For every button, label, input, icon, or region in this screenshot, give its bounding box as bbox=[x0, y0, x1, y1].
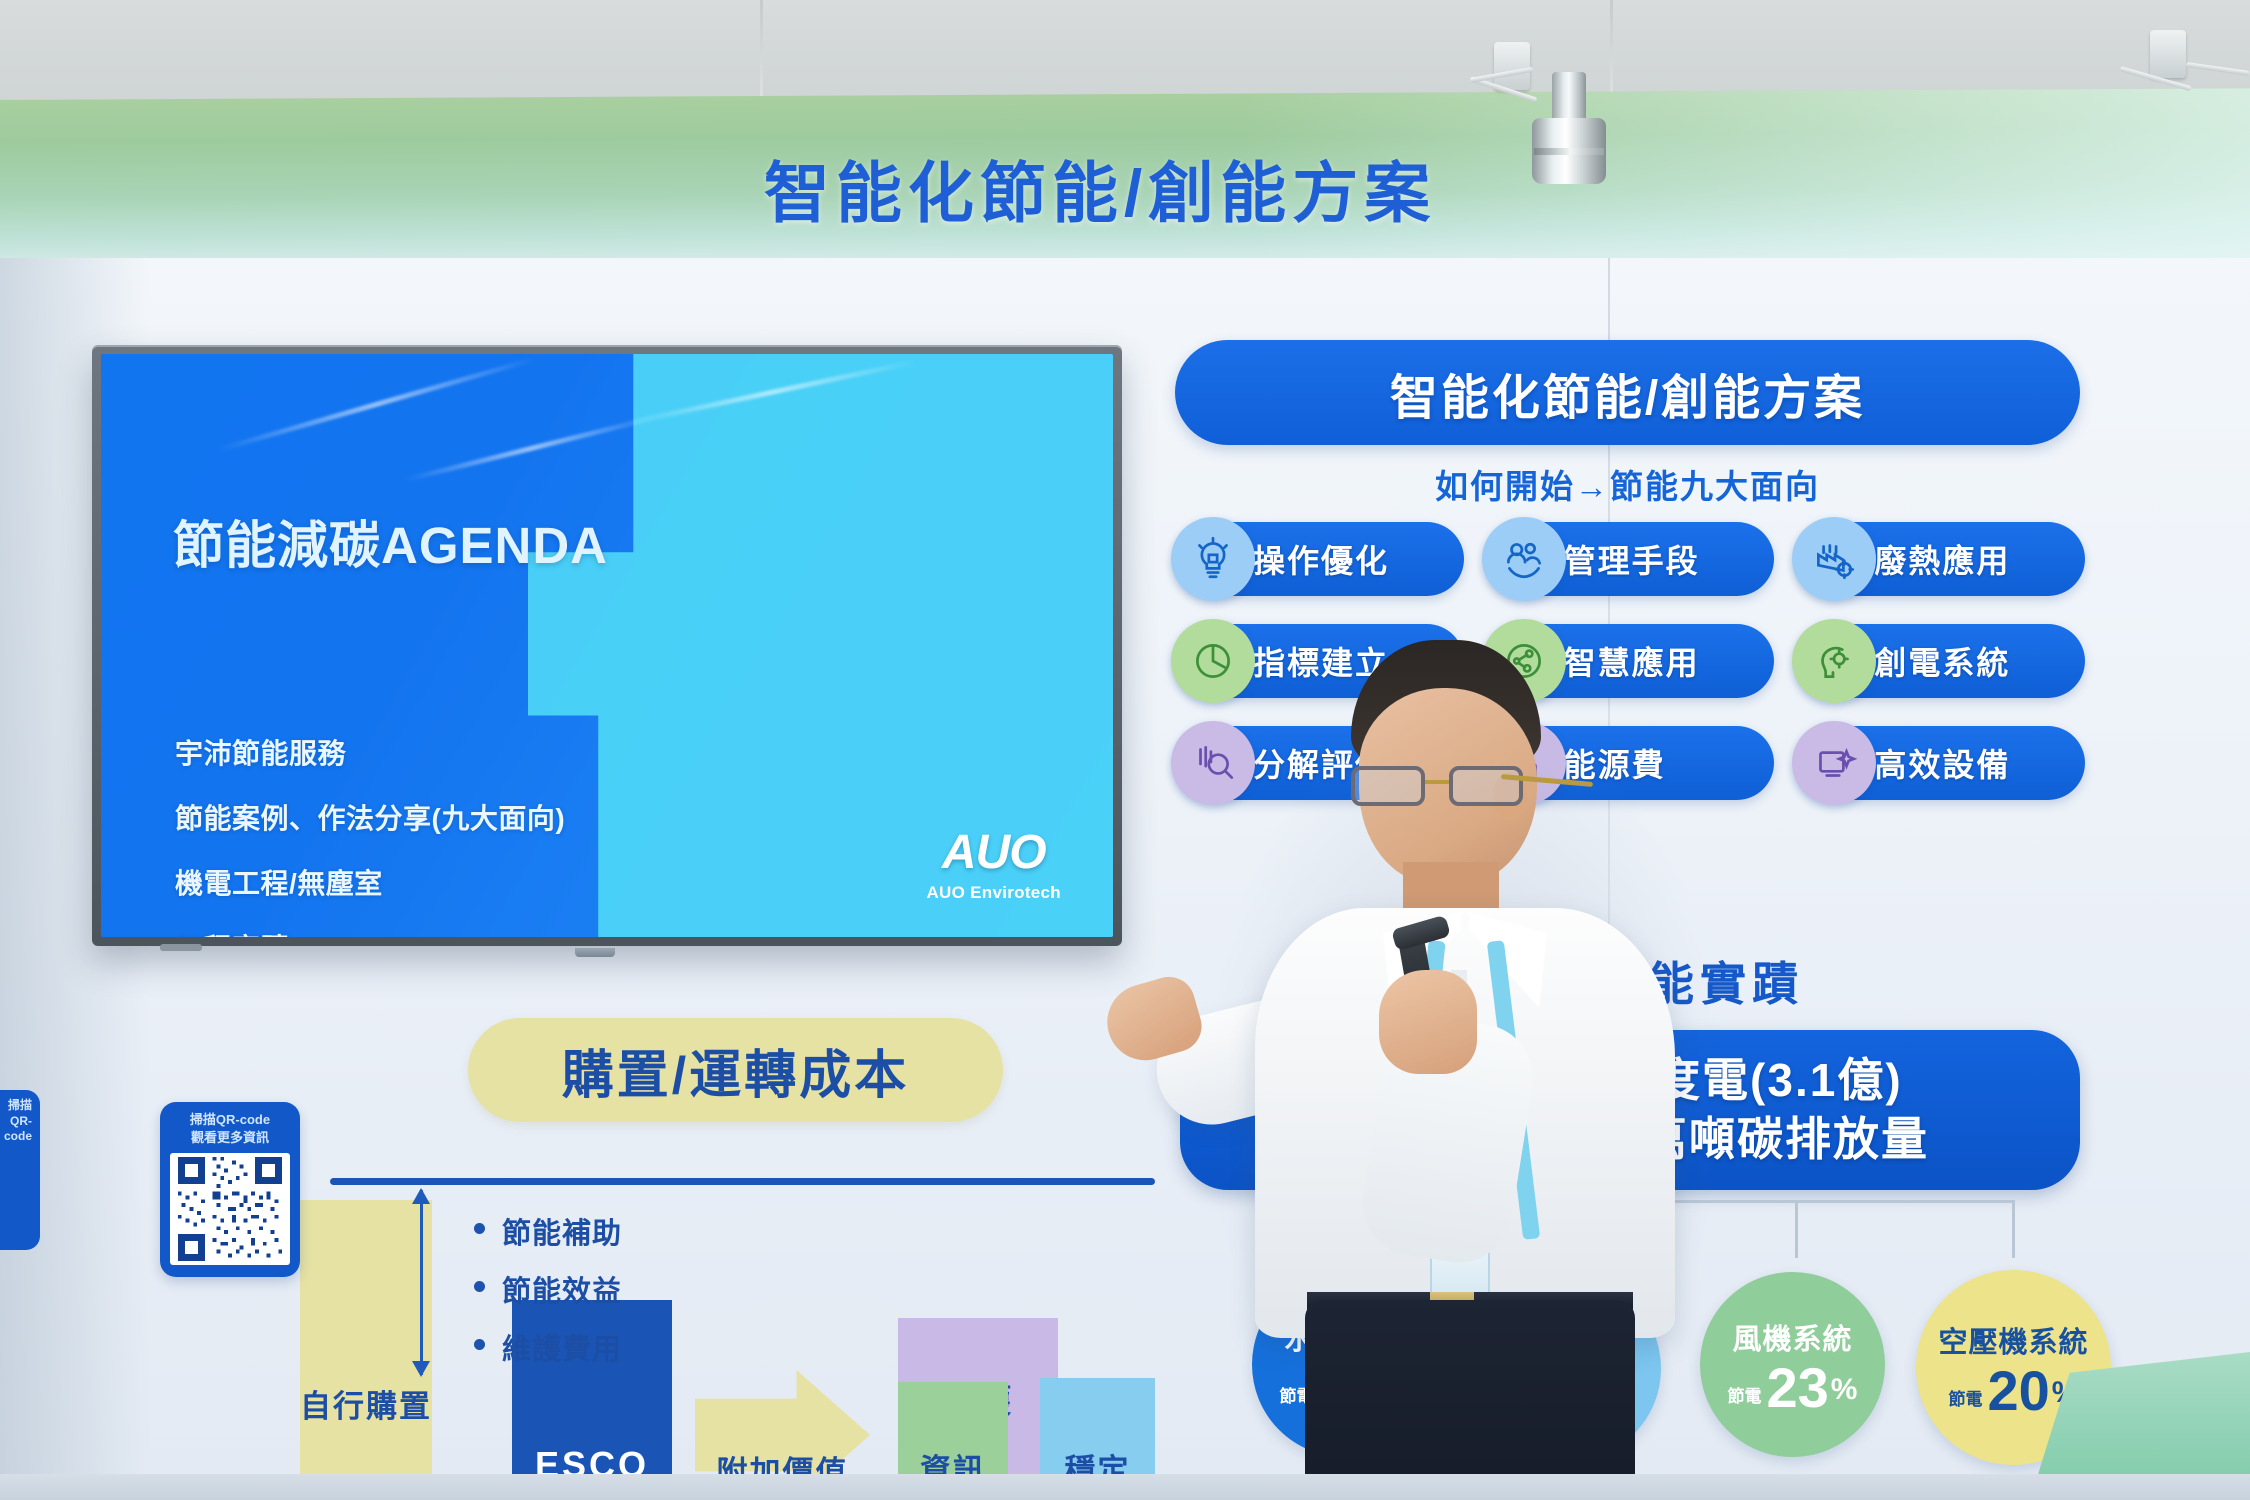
cost-bullet: 維護費用 bbox=[472, 1326, 622, 1368]
ceiling-panel-line bbox=[760, 0, 763, 100]
chart-top-rule bbox=[330, 1178, 1155, 1185]
slide-bullet: 機電工程/無塵室 bbox=[175, 862, 565, 902]
slide-streak bbox=[404, 415, 657, 483]
people-hand-icon bbox=[1482, 517, 1566, 601]
poster-title-pill: 智能化節能/創能方案 bbox=[1175, 340, 2080, 445]
booth-photo-scene: 智能化節能/創能方案 節能減碳AGENDA 宇沛節能服務 節能案例、作法分享(九… bbox=[0, 0, 2250, 1500]
aspect-pill-power-generation[interactable]: 創電系統 bbox=[1796, 624, 2085, 698]
aspect-pill-high-efficiency-equipment[interactable]: 高效設備 bbox=[1796, 726, 2085, 800]
pill-row: 操作優化 管理手段 bbox=[1175, 522, 2085, 596]
floor-strip bbox=[0, 1474, 2250, 1500]
auo-logo-mark: AUO bbox=[926, 829, 1061, 877]
spotlight bbox=[1532, 72, 1606, 184]
slide-bullet: 工程實蹟 bbox=[175, 927, 565, 937]
factory-gear-icon bbox=[1792, 517, 1876, 601]
aspect-pill-label: 高效設備 bbox=[1874, 740, 2010, 786]
poster-title-text: 智能化節能/創能方案 bbox=[1390, 358, 1865, 428]
aspect-pill-label: 創電系統 bbox=[1874, 638, 2010, 684]
presenter bbox=[1255, 640, 1675, 1500]
pie-chart-icon bbox=[1171, 619, 1255, 703]
cost-bar-chart: 自行購置 ESCO 維護 資訊 穩定 節能補助 節能效益 維護費用 附加價值 bbox=[300, 1178, 1180, 1500]
system-name: 風機系統 bbox=[1732, 1316, 1852, 1358]
chart-bar-self-purchase: 自行購置 bbox=[300, 1200, 432, 1500]
display-monitor[interactable]: 節能減碳AGENDA 宇沛節能服務 節能案例、作法分享(九大面向) 機電工程/無… bbox=[92, 345, 1122, 946]
eyeglass-lens bbox=[1351, 766, 1425, 806]
aspect-pill-management[interactable]: 管理手段 bbox=[1486, 522, 1775, 596]
cost-bullet-list: 節能補助 節能效益 維護費用 bbox=[472, 1210, 622, 1384]
aspect-pill-label: 操作優化 bbox=[1253, 536, 1389, 582]
monitor-screen: 節能減碳AGENDA 宇沛節能服務 節能案例、作法分享(九大面向) 機電工程/無… bbox=[101, 354, 1113, 937]
system-unit: % bbox=[1831, 1373, 1858, 1407]
system-circle-fan: 風機系統 節電 23 % bbox=[1700, 1272, 1885, 1457]
qr-caption-line-1: 掃描QR-code bbox=[4, 1098, 32, 1143]
eyeglass-bridge bbox=[1425, 780, 1449, 784]
cost-bullet: 節能效益 bbox=[472, 1268, 622, 1310]
banner-title-text: 智能化節能/創能方案 bbox=[764, 156, 1436, 230]
ceiling-panel-line bbox=[1610, 0, 1613, 100]
slide-bullet: 節能案例、作法分享(九大面向) bbox=[175, 797, 565, 837]
chart-bar-label: 自行購置 bbox=[300, 1386, 432, 1428]
system-value: 23 bbox=[1767, 1362, 1829, 1414]
cost-section-title: 購置/運轉成本 bbox=[562, 1033, 909, 1108]
presenter-right-hand bbox=[1379, 970, 1477, 1074]
qr-code-card[interactable]: 掃描QR-code 觀看更多資訊 bbox=[160, 1102, 300, 1277]
banner-title: 智能化節能/創能方案 bbox=[690, 140, 1510, 236]
poster-subtitle: 如何開始→節能九大面向 bbox=[1175, 460, 2080, 508]
qr-caption-line-1: 掃描QR-code bbox=[170, 1112, 290, 1128]
aspect-pill-label: 廢熱應用 bbox=[1874, 536, 2010, 582]
savings-gap-arrow bbox=[420, 1190, 423, 1375]
qr-card-partial-caption: 掃描QR-code bbox=[0, 1098, 32, 1145]
panel-sparkle-icon bbox=[1792, 721, 1876, 805]
magnifier-data-icon bbox=[1171, 721, 1255, 805]
qr-caption-line-2: 觀看更多資訊 bbox=[170, 1130, 290, 1146]
auo-logo-subtitle: AUO Envirotech bbox=[926, 883, 1061, 903]
aspect-pill-waste-heat[interactable]: 廢熱應用 bbox=[1796, 522, 2085, 596]
monitor-cable bbox=[160, 944, 202, 951]
slide-streak bbox=[217, 357, 536, 453]
brain-gear-icon bbox=[1792, 619, 1876, 703]
eyeglass-lens bbox=[1449, 766, 1523, 806]
auo-logo: AUO AUO Envirotech bbox=[926, 829, 1061, 903]
aspect-pill-label: 管理手段 bbox=[1564, 536, 1700, 582]
slide-title: 節能減碳AGENDA bbox=[173, 504, 608, 578]
system-metric: 節電 bbox=[1728, 1389, 1762, 1405]
cost-bullet: 節能補助 bbox=[472, 1210, 622, 1252]
presenter-trousers bbox=[1305, 1300, 1635, 1500]
system-value: 20 bbox=[1988, 1365, 2050, 1417]
slide-bullet-list: 宇沛節能服務 節能案例、作法分享(九大面向) 機電工程/無塵室 工程實蹟 bbox=[175, 732, 565, 937]
lightbulb-icon bbox=[1171, 517, 1255, 601]
eyeglasses-icon bbox=[1351, 766, 1527, 808]
spotlight-neck bbox=[1552, 72, 1586, 124]
cost-section-title-pill: 購置/運轉成本 bbox=[468, 1018, 1003, 1122]
aspect-pill-operation[interactable]: 操作優化 bbox=[1175, 522, 1464, 596]
qr-code-image bbox=[170, 1153, 290, 1265]
slide-bullet: 宇沛節能服務 bbox=[175, 732, 565, 772]
system-name: 空壓機系統 bbox=[1938, 1319, 2088, 1361]
light-mount bbox=[1494, 42, 1530, 90]
spotlight-ring bbox=[1534, 148, 1604, 155]
monitor-indicator bbox=[575, 948, 615, 957]
light-mount bbox=[2150, 30, 2186, 78]
system-metric: 節電 bbox=[1949, 1392, 1983, 1408]
